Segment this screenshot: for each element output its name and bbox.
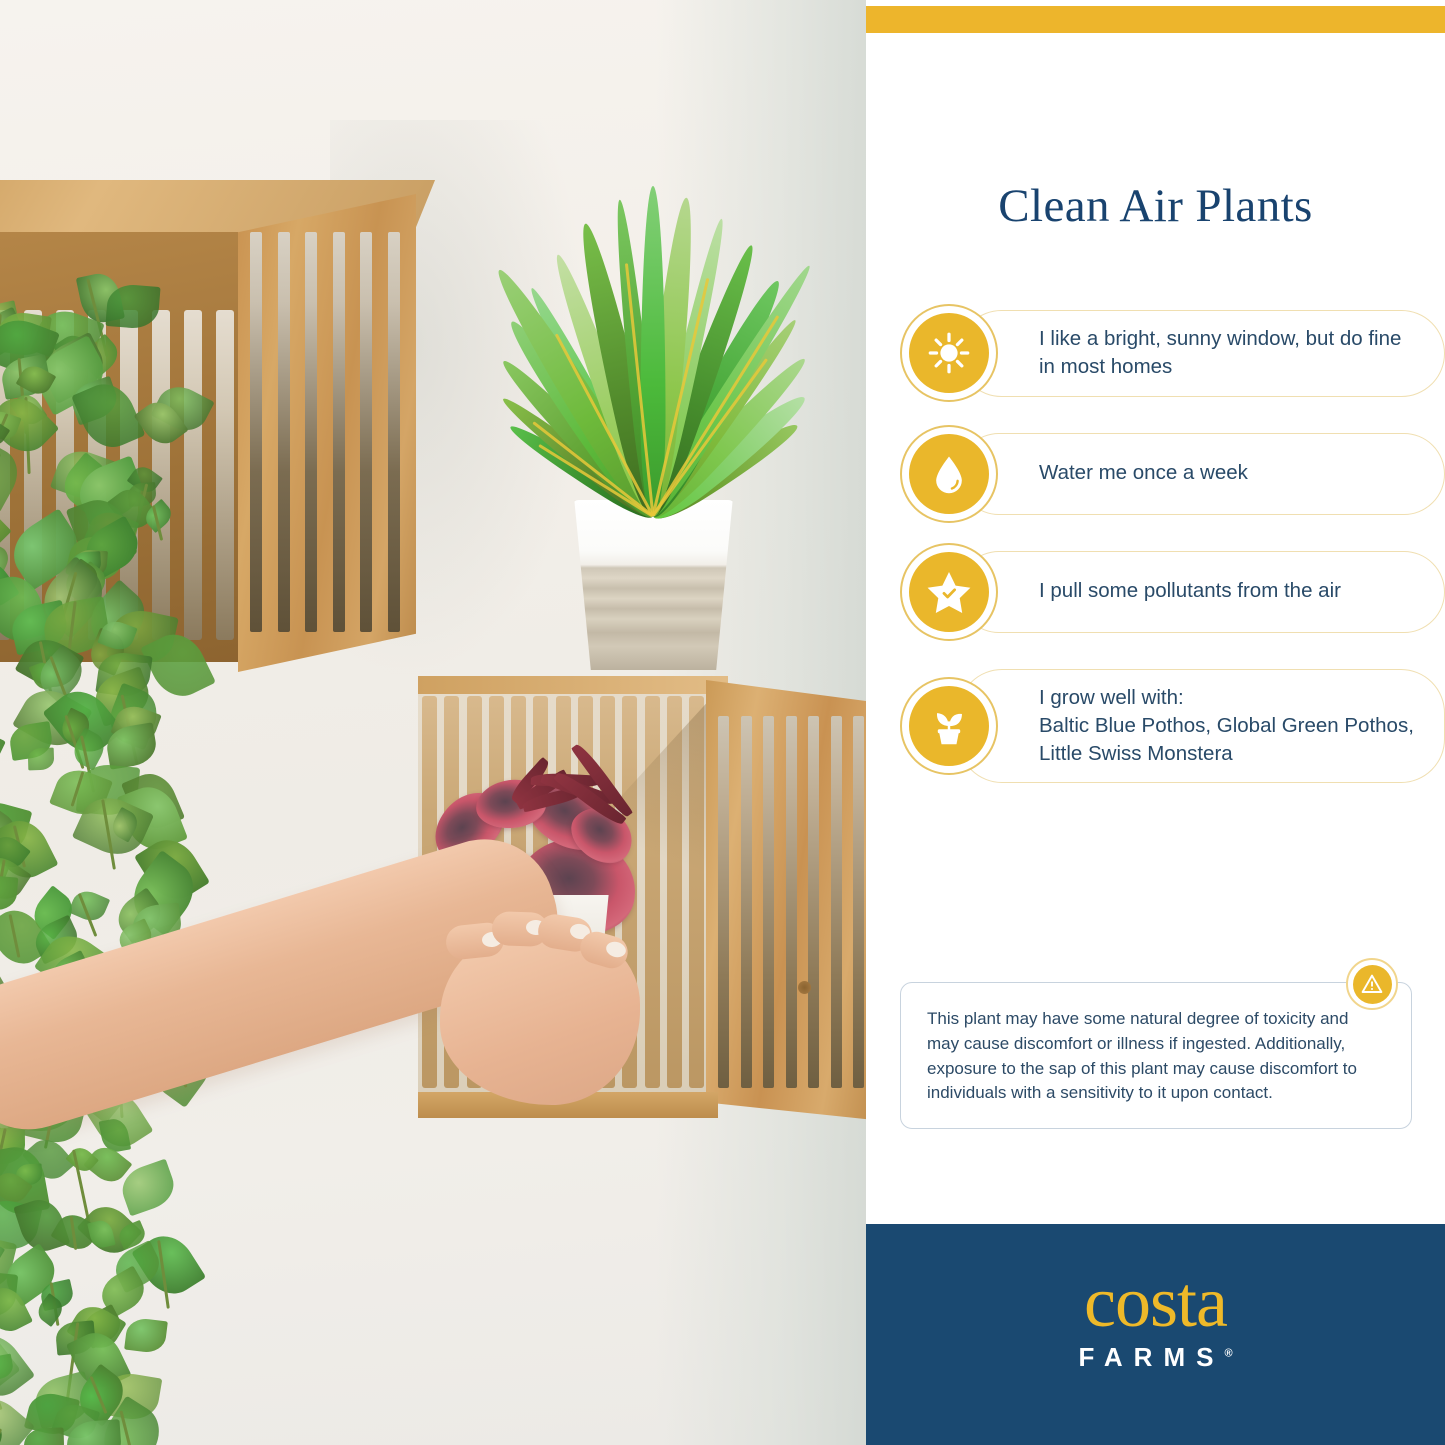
care-card-light-pill: I like a bright, sunny window, but do fi… bbox=[958, 310, 1445, 397]
page-title: Clean Air Plants bbox=[866, 179, 1445, 233]
potted-plant-icon-badge bbox=[900, 677, 998, 775]
potted-plant-icon bbox=[926, 703, 972, 749]
care-card-list: I like a bright, sunny window, but do fi… bbox=[900, 310, 1445, 819]
care-card-water-text: Water me once a week bbox=[1039, 459, 1248, 487]
water-drop-icon-badge bbox=[900, 425, 998, 523]
toxicity-warning-box: This plant may have some natural degree … bbox=[900, 982, 1412, 1129]
top-accent-bar bbox=[866, 6, 1445, 33]
logo-wordmark-farms: FARMS® bbox=[866, 1342, 1445, 1373]
plant-pot-upper bbox=[571, 500, 736, 670]
shelf-side-slats bbox=[250, 232, 400, 632]
toxicity-warning: This plant may have some natural degree … bbox=[900, 982, 1412, 1129]
care-card-pollutants: I pull some pollutants from the air bbox=[900, 551, 1445, 633]
care-card-pollutants-text: I pull some pollutants from the air bbox=[1039, 577, 1341, 605]
person-hand bbox=[440, 930, 640, 1105]
care-card-water: Water me once a week bbox=[900, 433, 1445, 515]
care-card-pollutants-pill: I pull some pollutants from the air bbox=[958, 551, 1445, 633]
care-card-companions-text: I grow well with: Baltic Blue Pothos, Gl… bbox=[1039, 684, 1414, 769]
warning-triangle-icon bbox=[1360, 972, 1384, 996]
infographic-page: Clean Air Plants bbox=[0, 0, 1445, 1445]
logo-wordmark-costa: costa bbox=[866, 1268, 1445, 1336]
croton-plant bbox=[493, 186, 813, 516]
warning-triangle-icon-badge bbox=[1346, 958, 1398, 1010]
water-drop-icon bbox=[927, 452, 971, 496]
star-check-icon-badge bbox=[900, 543, 998, 641]
care-card-water-pill: Water me once a week bbox=[958, 433, 1445, 515]
care-card-companions: I grow well with: Baltic Blue Pothos, Gl… bbox=[900, 669, 1445, 784]
pothos-plant bbox=[0, 270, 240, 1445]
sun-icon-badge bbox=[900, 304, 998, 402]
star-check-icon bbox=[925, 568, 973, 616]
care-card-light: I like a bright, sunny window, but do fi… bbox=[900, 310, 1445, 397]
product-photo bbox=[0, 0, 866, 1445]
care-card-companions-pill: I grow well with: Baltic Blue Pothos, Gl… bbox=[958, 669, 1445, 784]
info-panel: Clean Air Plants bbox=[866, 0, 1445, 1445]
footer-bar: costa FARMS® bbox=[866, 1224, 1445, 1445]
shelf-side-slats-lower bbox=[718, 716, 864, 1088]
wood-knot bbox=[798, 981, 811, 994]
toxicity-warning-text: This plant may have some natural degree … bbox=[927, 1007, 1385, 1106]
costa-farms-logo: costa FARMS® bbox=[866, 1268, 1445, 1373]
logo-farms-text: FARMS bbox=[1078, 1342, 1224, 1372]
care-card-light-text: I like a bright, sunny window, but do fi… bbox=[1039, 325, 1414, 382]
logo-trademark: ® bbox=[1224, 1348, 1232, 1360]
sun-icon bbox=[926, 330, 972, 376]
